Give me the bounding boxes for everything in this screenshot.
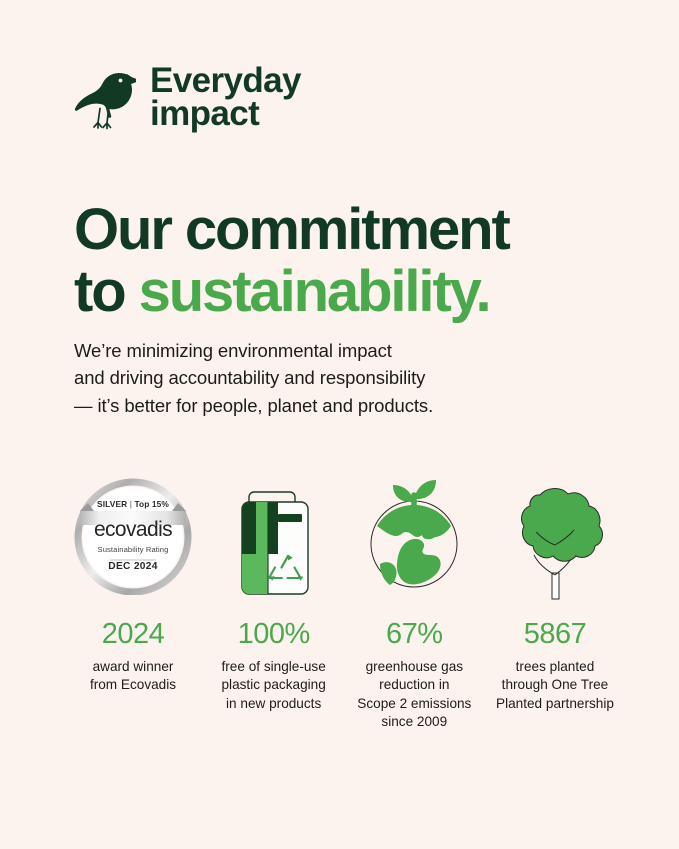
headline-line-2-plain: to — [74, 259, 139, 324]
tree-icon — [500, 469, 610, 604]
ecovadis-medal-icon: SILVER | Top 15% ecovadis Sustainability… — [74, 477, 192, 595]
bird-icon — [74, 62, 136, 134]
stat-caption-line: greenhouse gas — [357, 658, 471, 676]
stat-value-ghg-reduction: 67% — [386, 620, 443, 649]
stat-icon-ecovadis: SILVER | Top 15% ecovadis Sustainability… — [74, 466, 192, 606]
stat-icon-tree — [500, 466, 610, 606]
stat-caption-line: in new products — [222, 695, 326, 713]
stat-caption-line: trees planted — [496, 658, 614, 676]
stat-icon-globe — [354, 466, 474, 606]
stat-item-plastic-free-packaging: 100% free of single-use plastic packagin… — [207, 466, 341, 713]
page-title: Our commitment to sustainability. — [74, 199, 634, 324]
stat-caption-line: through One Tree — [496, 676, 614, 694]
stat-caption-plastic-free-packaging: free of single-use plastic packaging in … — [222, 658, 326, 713]
stat-value-trees-planted: 5867 — [524, 620, 587, 649]
stat-caption-line: from Ecovadis — [90, 676, 176, 694]
intro-line-3: — it’s better for people, planet and pro… — [74, 392, 544, 420]
stat-caption-line: reduction in — [357, 676, 471, 694]
brand-name-line-2: impact — [150, 98, 301, 131]
intro-line-1: We’re minimizing environmental impact — [74, 337, 544, 365]
intro-line-2: and driving accountability and responsib… — [74, 364, 544, 392]
stat-caption-line: free of single-use — [222, 658, 326, 676]
stat-caption-ghg-reduction: greenhouse gas reduction in Scope 2 emis… — [357, 658, 471, 732]
stat-caption-trees-planted: trees planted through One Tree Planted p… — [496, 658, 614, 713]
brand-name: Everyday impact — [150, 65, 301, 131]
stat-item-trees-planted: 5867 trees planted through One Tree Plan… — [488, 466, 622, 713]
globe-sprout-icon — [354, 466, 474, 606]
headline-line-2: to sustainability. — [74, 261, 634, 324]
sustainability-infographic: Everyday impact Our commitment to sustai… — [0, 0, 679, 849]
stat-value-ecovadis-award: 2024 — [102, 620, 165, 649]
stat-caption-line: Planted partnership — [496, 695, 614, 713]
stats-row: SILVER | Top 15% ecovadis Sustainability… — [66, 466, 622, 732]
stat-item-ghg-reduction: 67% greenhouse gas reduction in Scope 2 … — [347, 466, 481, 732]
stat-caption-line: award winner — [90, 658, 176, 676]
stat-caption-line: plastic packaging — [222, 676, 326, 694]
intro-paragraph: We’re minimizing environmental impact an… — [74, 337, 544, 420]
recyclable-packaging-icon — [222, 470, 326, 602]
stat-caption-ecovadis-award: award winner from Ecovadis — [90, 658, 176, 695]
brand-logo: Everyday impact — [74, 62, 301, 134]
headline-accent: sustainability. — [139, 259, 490, 324]
stat-caption-line: since 2009 — [357, 713, 471, 731]
stat-caption-line: Scope 2 emissions — [357, 695, 471, 713]
stat-icon-packaging — [222, 466, 326, 606]
stat-item-ecovadis-award: SILVER | Top 15% ecovadis Sustainability… — [66, 466, 200, 695]
headline-line-1: Our commitment — [74, 199, 634, 262]
stat-value-plastic-free-packaging: 100% — [238, 620, 310, 649]
